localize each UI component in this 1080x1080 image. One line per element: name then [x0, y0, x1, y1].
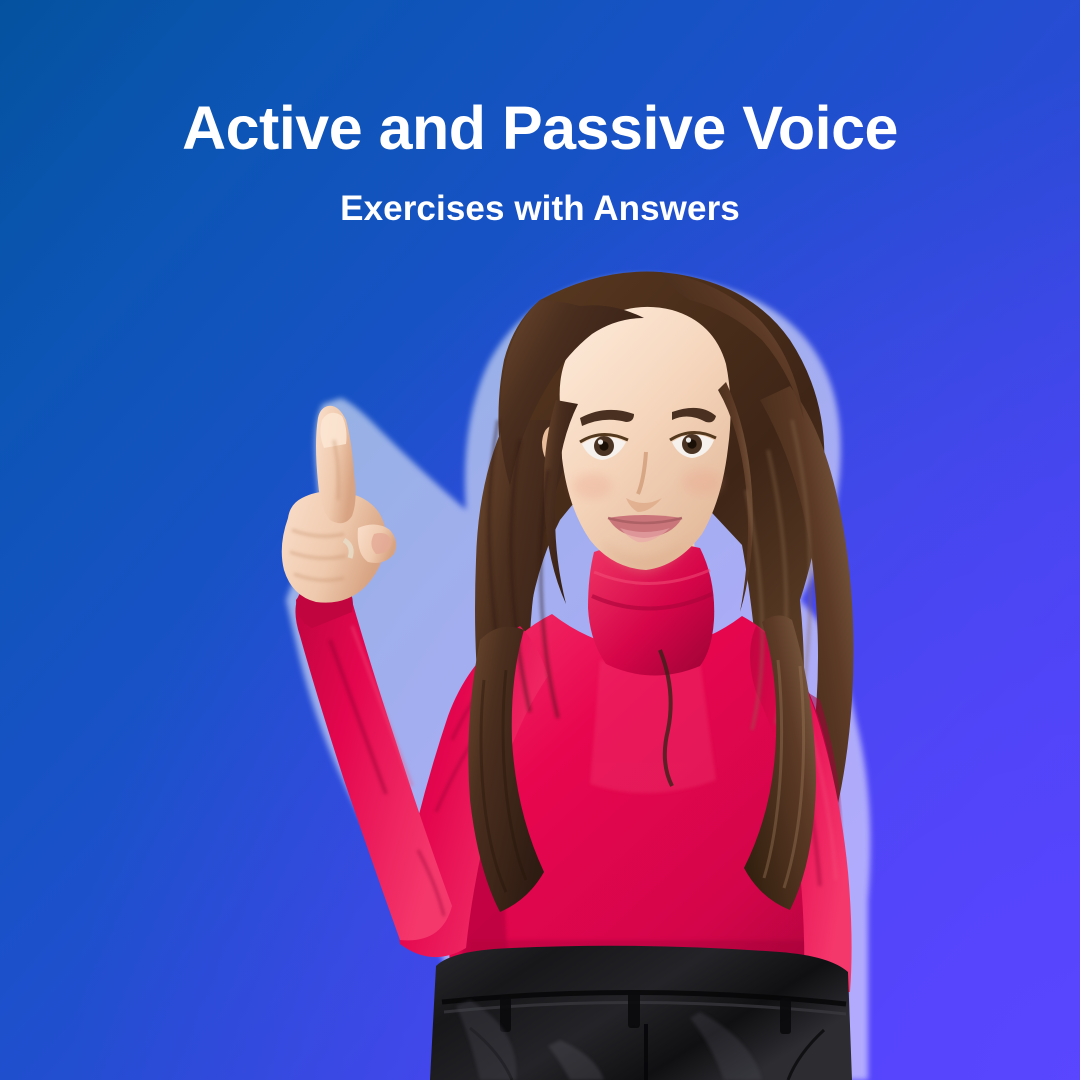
trousers [430, 946, 852, 1080]
poster-canvas: Active and Passive Voice Exercises with … [0, 0, 1080, 1080]
page-title: Active and Passive Voice [0, 96, 1080, 160]
page-subtitle: Exercises with Answers [0, 189, 1080, 229]
heading-block: Active and Passive Voice Exercises with … [0, 0, 1080, 229]
